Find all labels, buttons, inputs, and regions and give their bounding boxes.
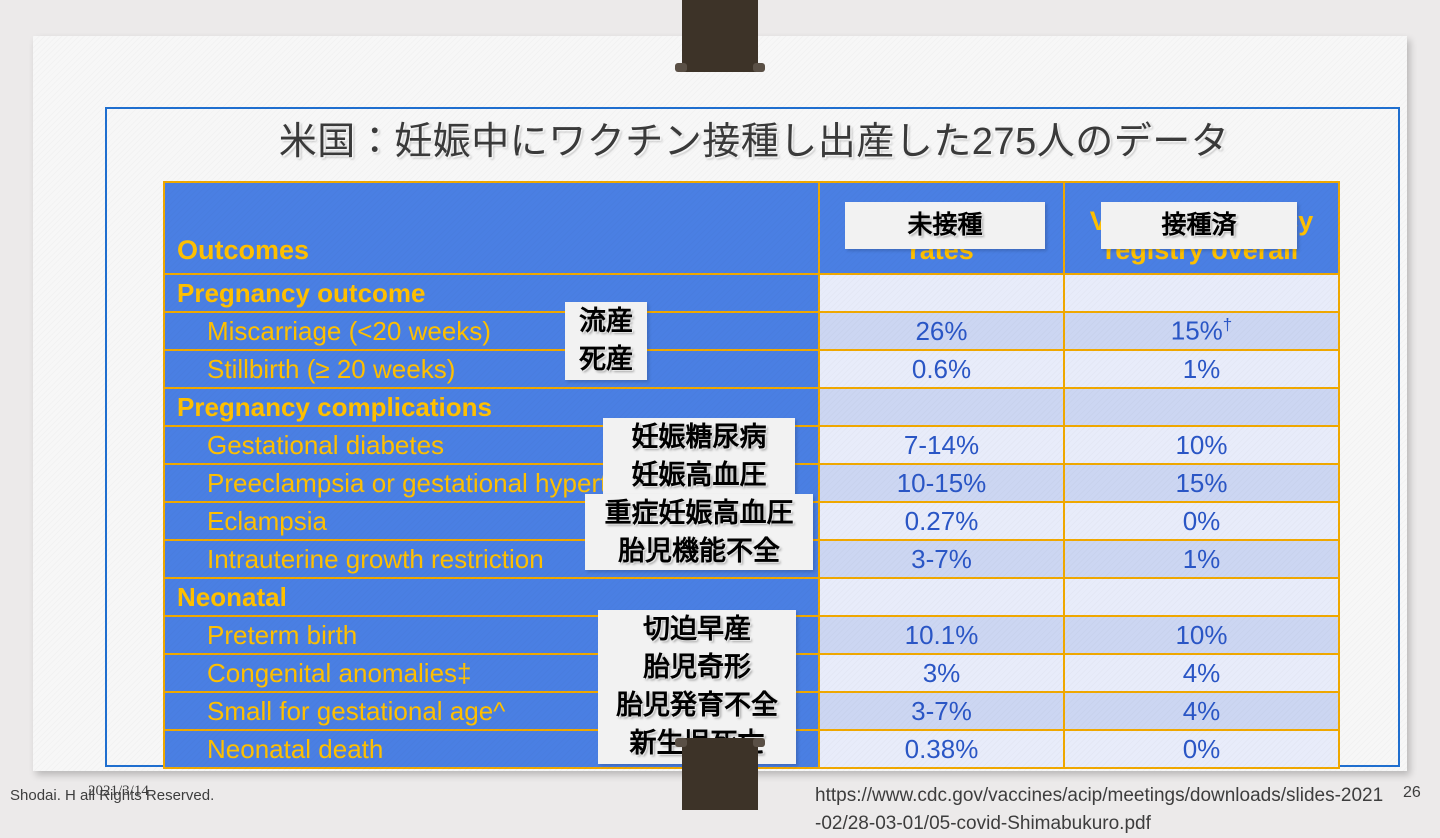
annotation-gestational-hypertension: 妊娠高血圧	[603, 456, 795, 494]
annotation-preterm-birth: 切迫早産	[598, 610, 796, 648]
slide-sheet: 米国：妊娠中にワクチン接種し出産した275人のデータ Outcomes Back…	[33, 36, 1407, 771]
row-label: Stillbirth (≥ 20 weeks)	[164, 350, 819, 388]
column-header-outcomes: Outcomes	[164, 182, 819, 274]
registry-value	[1064, 388, 1339, 426]
registry-value: 0%	[1064, 730, 1339, 768]
occlusion-bar-bottom	[682, 738, 758, 810]
background-rate-value: 0.27%	[819, 502, 1064, 540]
page-title: 米国：妊娠中にワクチン接種し出産した275人のデータ	[109, 120, 1399, 165]
background-rate-value: 26%	[819, 312, 1064, 350]
table-row: Pregnancy outcome	[164, 274, 1339, 312]
row-label-text: Neonatal	[165, 582, 818, 613]
annotation-pregnancy-outcome: 流産 死産	[565, 302, 647, 380]
row-label-text: Stillbirth (≥ 20 weeks)	[165, 354, 818, 385]
registry-value-footnote: †	[1223, 315, 1232, 334]
table-row: Miscarriage (<20 weeks)26%15%†	[164, 312, 1339, 350]
background-rate-value: 3%	[819, 654, 1064, 692]
annotation-fetal-distress: 胎児機能不全	[585, 532, 813, 570]
registry-value	[1064, 274, 1339, 312]
annotation-complications-upper: 妊娠糖尿病 妊娠高血圧	[603, 418, 795, 494]
occlusion-bar-top	[682, 0, 758, 72]
background-rate-value: 3-7%	[819, 540, 1064, 578]
background-rate-value	[819, 578, 1064, 616]
copyright-notice: Shodai. H all Rights Reserved.	[10, 787, 214, 804]
annotation-severe-hypertension: 重症妊娠高血圧	[585, 494, 813, 532]
annotation-unvaccinated: 未接種	[845, 202, 1045, 249]
annotation-growth-restriction: 胎児発育不全	[598, 686, 796, 724]
registry-value: 10%	[1064, 616, 1339, 654]
registry-value: 4%	[1064, 692, 1339, 730]
background-rate-value: 7-14%	[819, 426, 1064, 464]
annotation-stillbirth: 死産	[565, 340, 647, 378]
bar-tab-right	[753, 738, 765, 747]
row-label: Pregnancy outcome	[164, 274, 819, 312]
annotation-vaccinated: 接種済	[1101, 202, 1297, 249]
bar-tab-left	[675, 63, 687, 72]
annotation-congenital-anomaly: 胎児奇形	[598, 648, 796, 686]
row-label-text: Miscarriage (<20 weeks)	[165, 316, 818, 347]
registry-value: 1%	[1064, 350, 1339, 388]
registry-value-text: 15%	[1171, 316, 1223, 346]
registry-value: 0%	[1064, 502, 1339, 540]
registry-value: 15%†	[1064, 312, 1339, 350]
background-rate-value: 3-7%	[819, 692, 1064, 730]
background-rate-value: 0.6%	[819, 350, 1064, 388]
bar-tab-left	[675, 738, 687, 747]
registry-value: 10%	[1064, 426, 1339, 464]
registry-value: 1%	[1064, 540, 1339, 578]
annotation-gestational-diabetes: 妊娠糖尿病	[603, 418, 795, 456]
registry-value: 15%	[1064, 464, 1339, 502]
annotation-complications-lower: 重症妊娠高血圧 胎児機能不全	[585, 494, 813, 570]
background-rate-value	[819, 274, 1064, 312]
annotation-miscarriage: 流産	[565, 302, 647, 340]
background-rate-value: 10.1%	[819, 616, 1064, 654]
registry-value	[1064, 578, 1339, 616]
registry-value: 4%	[1064, 654, 1339, 692]
source-url: https://www.cdc.gov/vaccines/acip/meetin…	[815, 782, 1385, 838]
bar-tab-right	[753, 63, 765, 72]
page-number: 26	[1403, 784, 1421, 802]
row-label: Miscarriage (<20 weeks)	[164, 312, 819, 350]
background-rate-value: 0.38%	[819, 730, 1064, 768]
background-rate-value: 10-15%	[819, 464, 1064, 502]
row-label-text: Pregnancy outcome	[165, 278, 818, 309]
table-row: Stillbirth (≥ 20 weeks)0.6%1%	[164, 350, 1339, 388]
background-rate-value	[819, 388, 1064, 426]
